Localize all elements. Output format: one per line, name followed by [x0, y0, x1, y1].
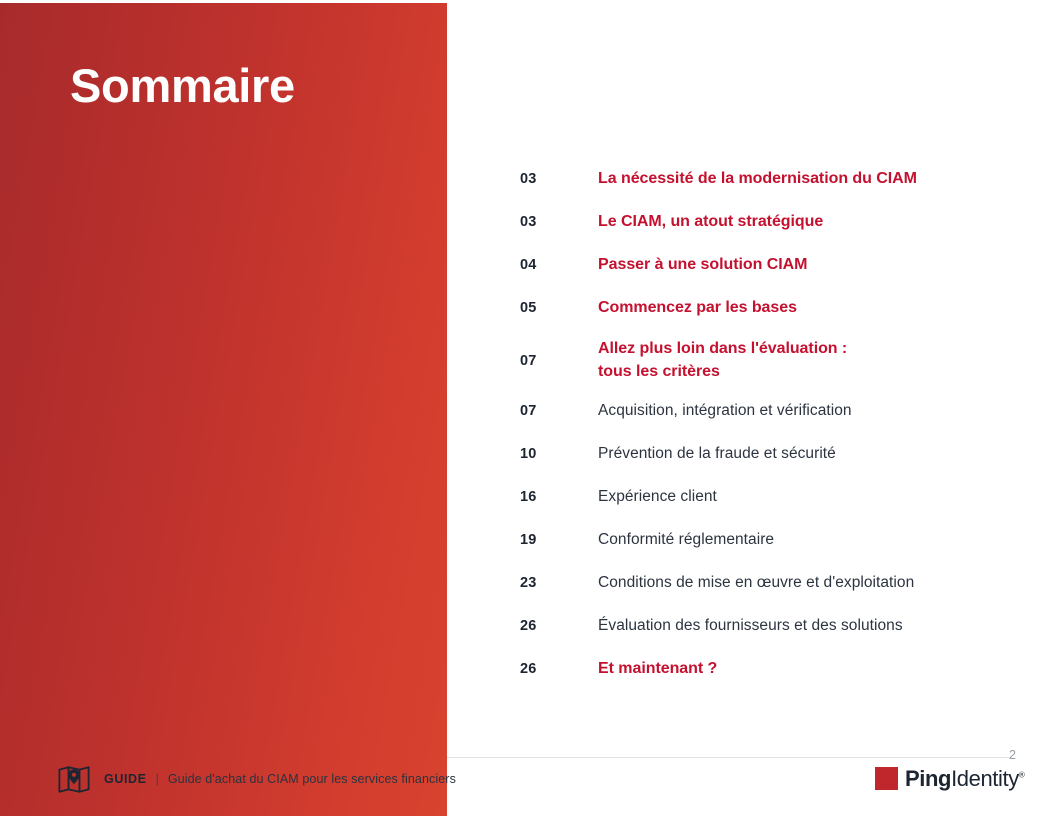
footer-text: GUIDE | Guide d'achat du CIAM pour les s…	[104, 772, 456, 786]
toc-entry[interactable]: 04 Passer à une solution CIAM	[520, 252, 1020, 278]
toc-entry[interactable]: 07 Allez plus loin dans l'évaluation : t…	[520, 338, 1020, 383]
toc-entry[interactable]: 07 Acquisition, intégration et vérificat…	[520, 398, 1020, 424]
toc-entry[interactable]: 03 Le CIAM, un atout stratégique	[520, 209, 1020, 235]
toc-page-number: 23	[520, 575, 598, 591]
toc-entry[interactable]: 03 La nécessité de la modernisation du C…	[520, 166, 1020, 192]
footer-kicker: GUIDE	[104, 772, 147, 786]
toc-page-number: 10	[520, 446, 598, 462]
toc-page-number: 05	[520, 300, 598, 316]
toc-page-number: 26	[520, 661, 598, 677]
toc-entry-label: Acquisition, intégration et vérification	[598, 400, 1020, 422]
toc-page-number: 07	[520, 403, 598, 419]
title-panel: Sommaire	[0, 3, 447, 816]
toc-page-number: 03	[520, 214, 598, 230]
toc-page-number: 19	[520, 532, 598, 548]
toc-entry-label-line1: Allez plus loin dans l'évaluation :	[598, 340, 847, 357]
registered-mark: ®	[1019, 770, 1025, 779]
toc-page-number: 03	[520, 171, 598, 187]
toc-entry-label: Commencez par les bases	[598, 297, 1020, 320]
toc-entry-label: Expérience client	[598, 486, 1020, 508]
toc-entry-label-line2: tous les critères	[598, 361, 1020, 384]
toc-entry[interactable]: 16 Expérience client	[520, 484, 1020, 510]
toc-entry[interactable]: 19 Conformité réglementaire	[520, 527, 1020, 553]
toc-entry-label: Et maintenant ?	[598, 658, 1020, 681]
toc-entry-label: Évaluation des fournisseurs et des solut…	[598, 615, 1020, 637]
toc-entry-label: Passer à une solution CIAM	[598, 254, 1020, 277]
toc-entry-label: Le CIAM, un atout stratégique	[598, 211, 1020, 234]
toc-entry[interactable]: 05 Commencez par les bases	[520, 295, 1020, 321]
toc-entry[interactable]: 26 Et maintenant ?	[520, 656, 1020, 682]
footer-branding: GUIDE | Guide d'achat du CIAM pour les s…	[57, 762, 456, 796]
toc-entry-label: Prévention de la fraude et sécurité	[598, 443, 1020, 465]
ping-square-mark-icon	[875, 767, 898, 790]
logo-word-identity: Identity	[951, 766, 1019, 791]
page-title: Sommaire	[70, 60, 295, 112]
toc-entry-label: Allez plus loin dans l'évaluation : tous…	[598, 338, 1020, 383]
toc-entry-label: Conditions de mise en œuvre et d'exploit…	[598, 572, 1020, 594]
toc-entry-label: La nécessité de la modernisation du CIAM	[598, 168, 1020, 191]
toc-page-number: 26	[520, 618, 598, 634]
document-page: Sommaire 03 La nécessité de la modernisa…	[0, 0, 1056, 816]
map-guide-icon	[57, 762, 91, 796]
toc-entry-label: Conformité réglementaire	[598, 529, 1020, 551]
table-of-contents: 03 La nécessité de la modernisation du C…	[520, 166, 1020, 699]
footer-separator: |	[156, 772, 159, 786]
toc-page-number: 07	[520, 353, 598, 369]
toc-entry[interactable]: 10 Prévention de la fraude et sécurité	[520, 441, 1020, 467]
footer-subtitle: Guide d'achat du CIAM pour les services …	[168, 772, 456, 786]
toc-entry[interactable]: 26 Évaluation des fournisseurs et des so…	[520, 613, 1020, 639]
footer-divider	[447, 757, 1012, 758]
toc-page-number: 16	[520, 489, 598, 505]
toc-entry[interactable]: 23 Conditions de mise en œuvre et d'expl…	[520, 570, 1020, 596]
ping-identity-logo: PingIdentity®	[875, 767, 1025, 790]
toc-page-number: 04	[520, 257, 598, 273]
logo-word-ping: Ping	[905, 766, 951, 791]
page-number: 2	[1009, 748, 1016, 762]
logo-wordmark: PingIdentity®	[905, 768, 1025, 790]
